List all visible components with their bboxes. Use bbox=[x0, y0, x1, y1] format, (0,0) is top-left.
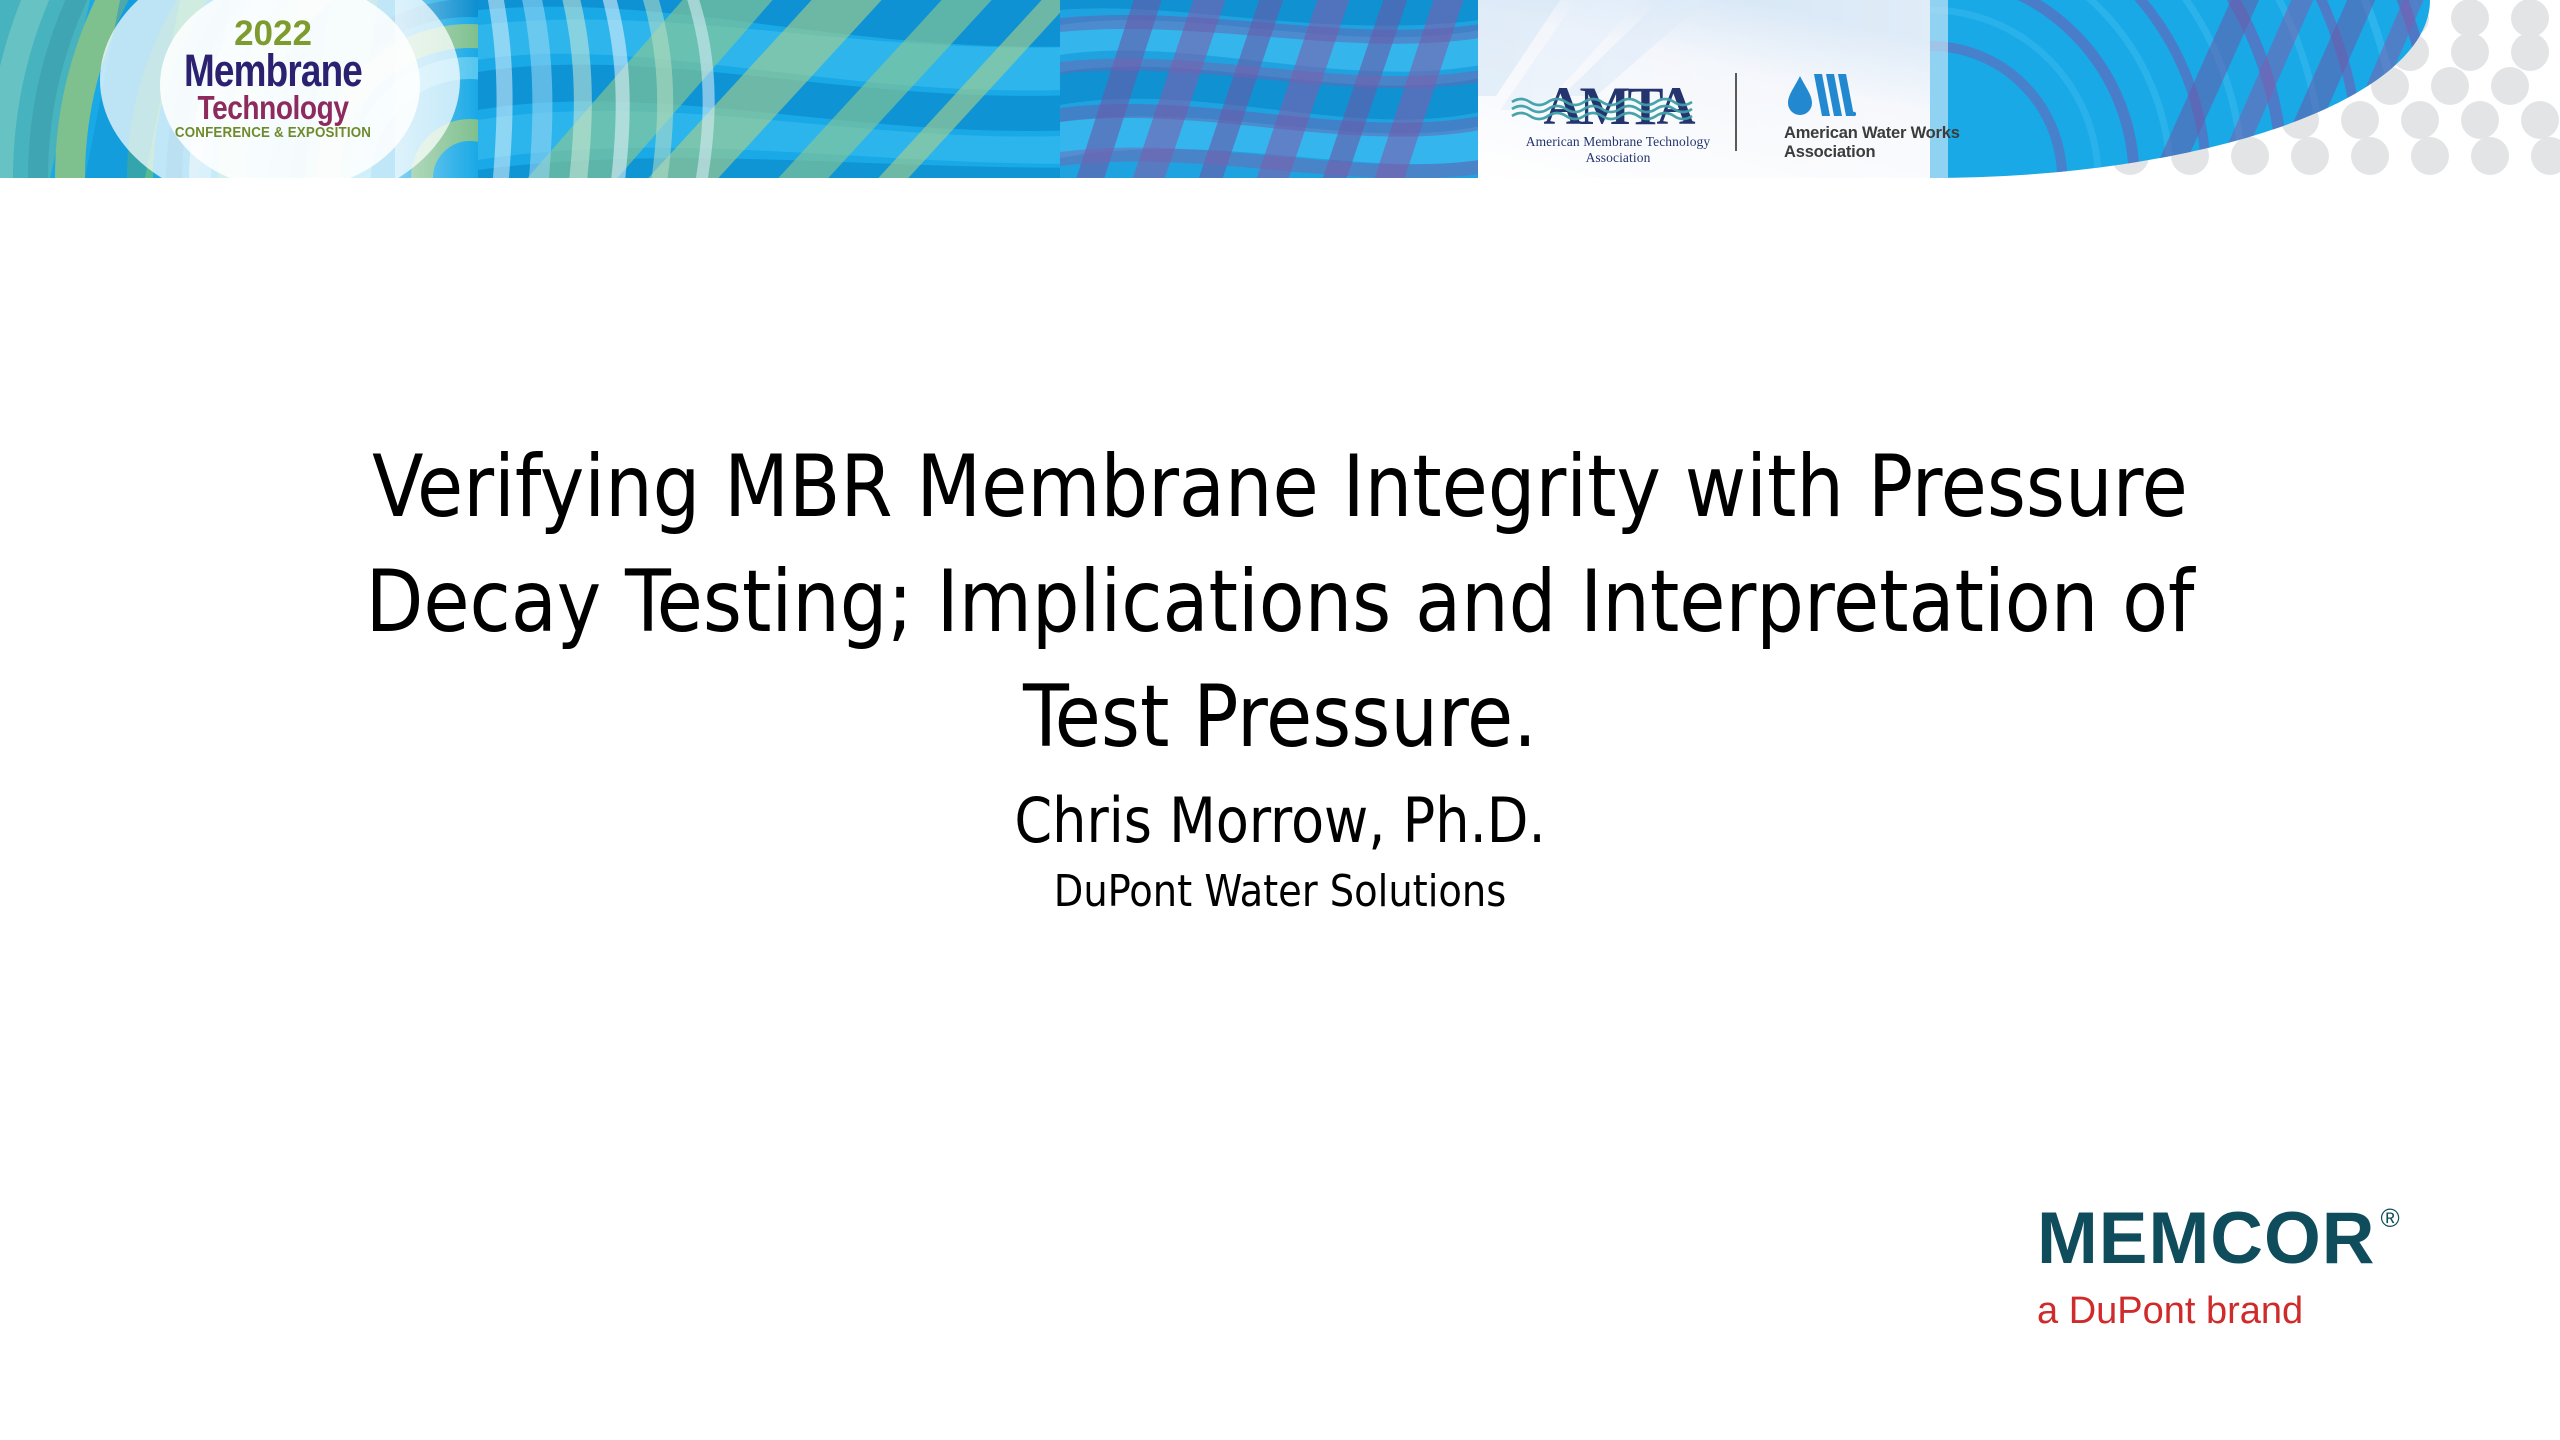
amta-full-name: American Membrane Technology Association bbox=[1498, 134, 1738, 166]
awwa-waterdrop-icon bbox=[1784, 72, 1856, 118]
amta-logo-mark: AMTA bbox=[1498, 78, 1738, 134]
logo-divider bbox=[1735, 73, 1737, 151]
amta-wave-icon bbox=[1498, 78, 1738, 134]
conference-logo-membrane: Membrane bbox=[171, 48, 376, 93]
awwa-name: American Water Works Association bbox=[1784, 124, 1960, 162]
presenter-affiliation: DuPont Water Solutions bbox=[38, 863, 2521, 921]
memcor-wordmark: MEMCOR bbox=[2037, 1200, 2376, 1278]
memcor-wordmark-row: MEMCOR ® bbox=[2037, 1200, 2497, 1278]
amta-logo: AMTA American Membrane Technology Associ… bbox=[1498, 78, 1738, 164]
conference-banner: 2022 Membrane Technology CONFERENCE & EX… bbox=[0, 0, 2560, 178]
memcor-logo: MEMCOR ® a DuPont brand bbox=[2037, 1200, 2497, 1360]
banner-wave-art bbox=[478, 0, 1480, 178]
conference-logo-technology: Technology bbox=[167, 91, 380, 124]
registered-trademark-icon: ® bbox=[2381, 1203, 2400, 1233]
title-block: Verifying MBR Membrane Integrity with Pr… bbox=[0, 430, 2560, 921]
conference-logo: 2022 Membrane Technology CONFERENCE & EX… bbox=[148, 4, 398, 174]
memcor-tagline: a DuPont brand bbox=[2037, 1288, 2497, 1334]
awwa-logo: American Water Works Association bbox=[1784, 72, 1984, 162]
presenter-name: Chris Morrow, Ph.D. bbox=[38, 781, 2521, 861]
page-title: Verifying MBR Membrane Integrity with Pr… bbox=[38, 430, 2521, 775]
conference-logo-subtitle: CONFERENCE & EXPOSITION bbox=[158, 126, 388, 141]
